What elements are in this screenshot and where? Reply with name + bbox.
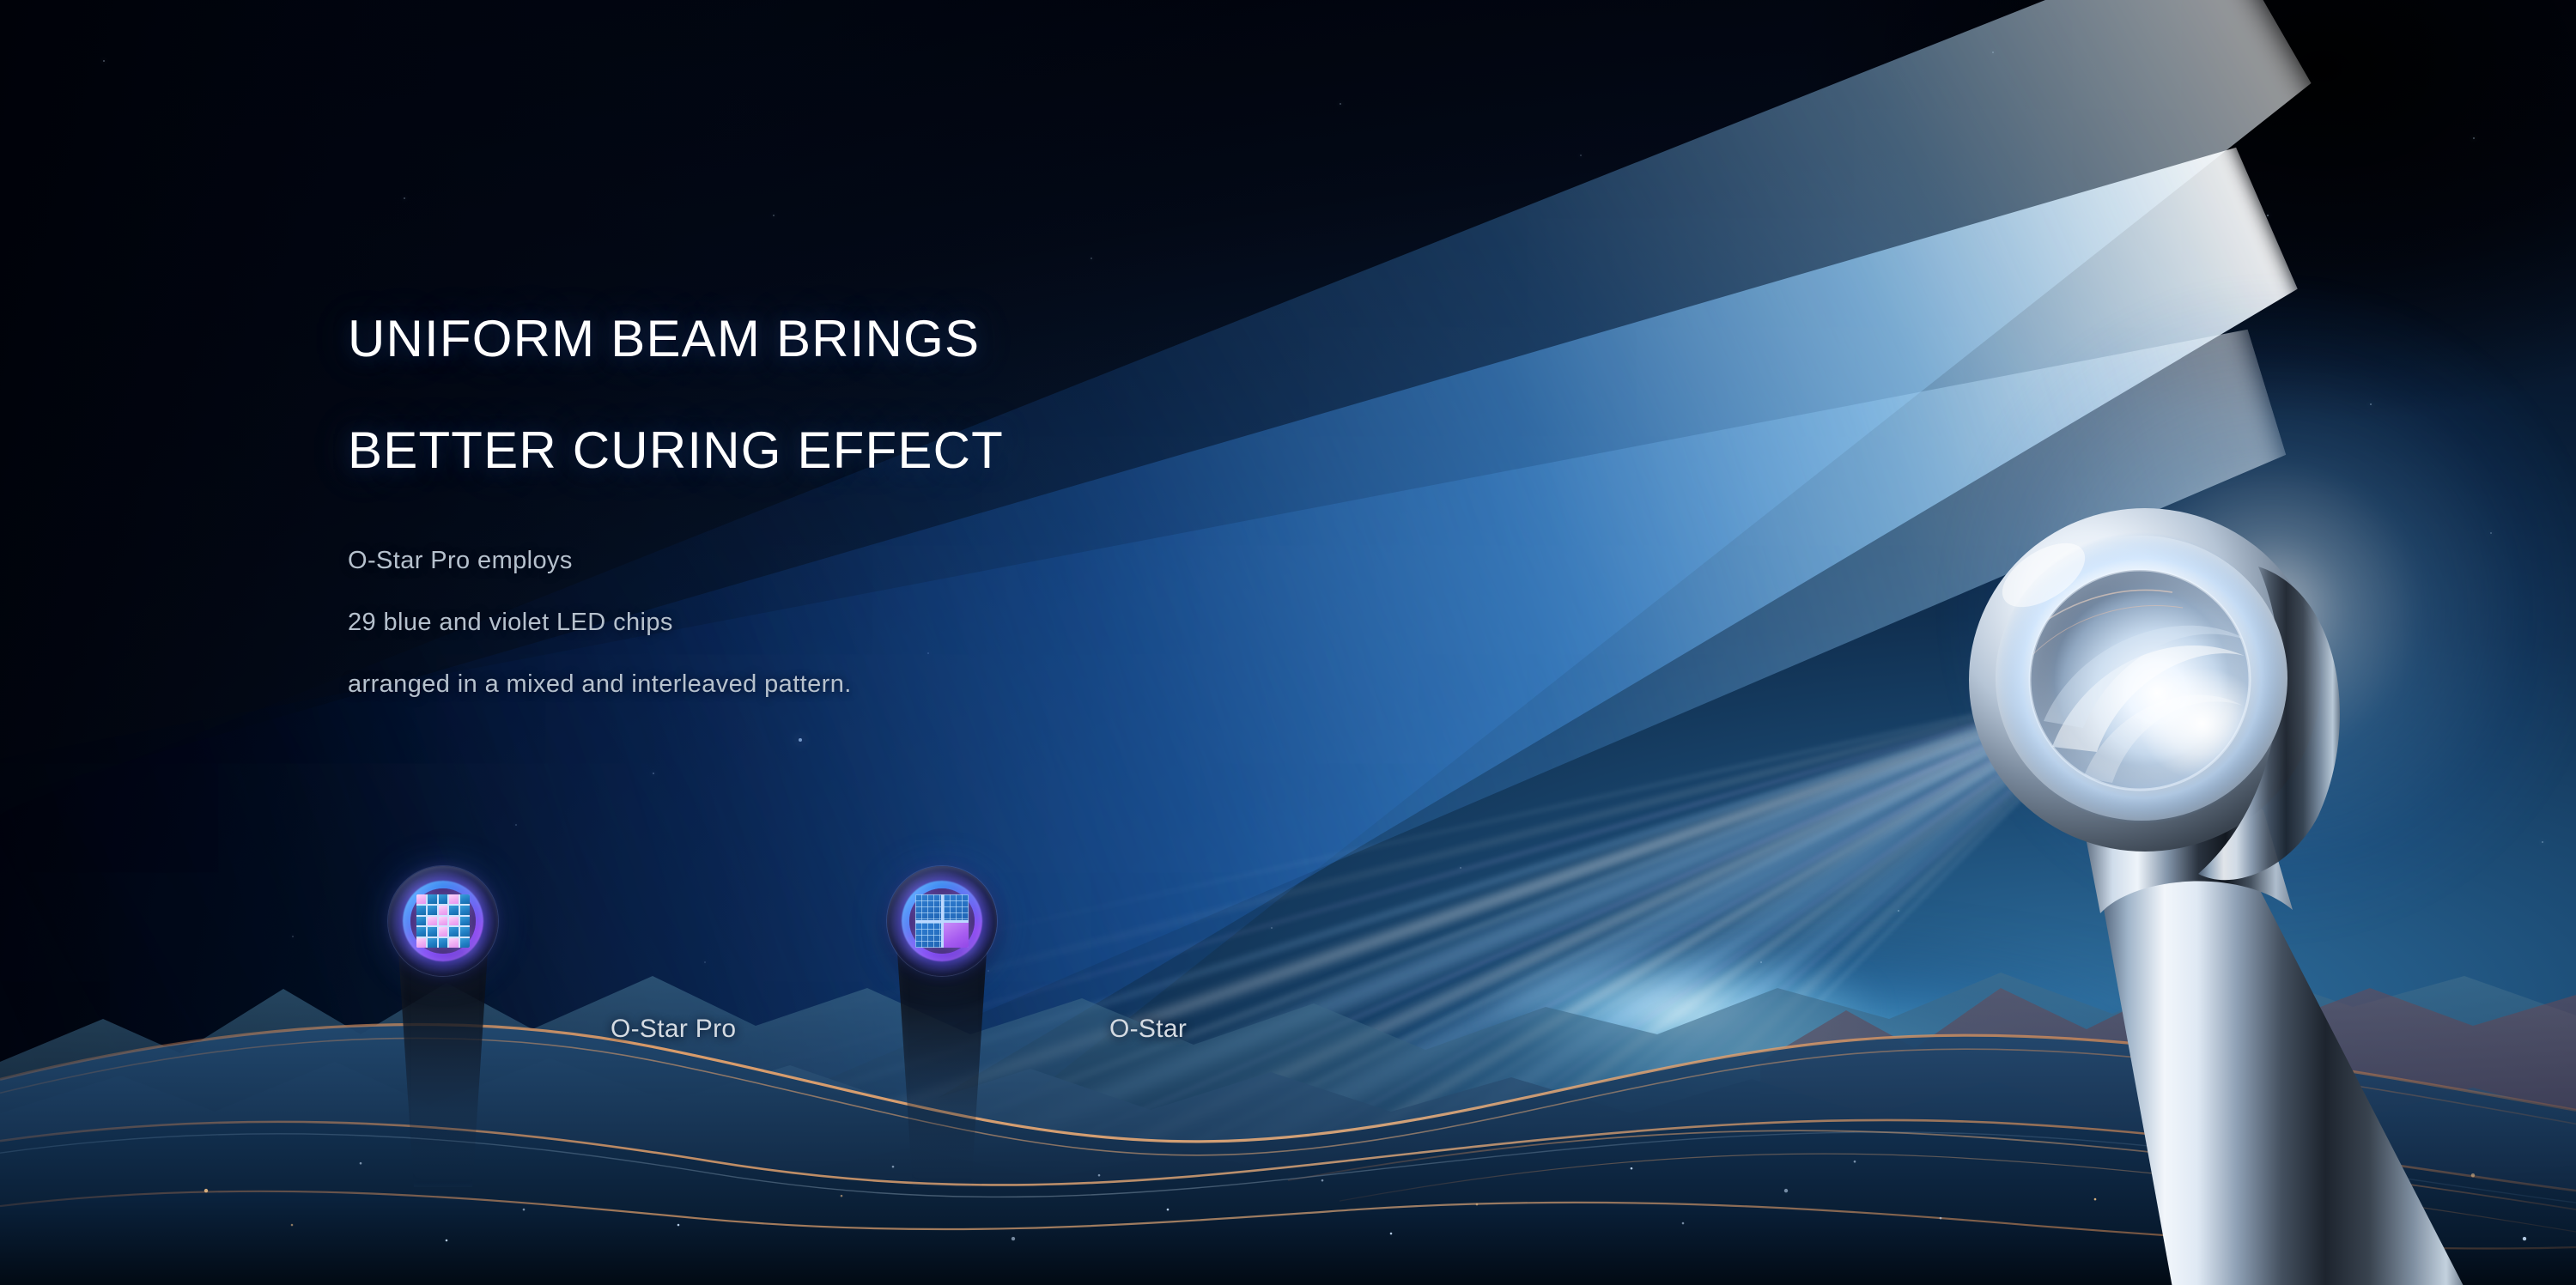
led-cell-blue: [460, 906, 470, 915]
led-cell-blue: [449, 927, 459, 936]
dune-sparkle: [1321, 1179, 1324, 1182]
subcopy-line-3: arranged in a mixed and interleaved patt…: [348, 653, 1378, 715]
dune-sparkle: [204, 1189, 208, 1192]
led-cell-violet: [416, 938, 426, 948]
dune-sparkle: [291, 1224, 294, 1227]
led-cell-blue: [428, 906, 437, 915]
dune-sparkle: [360, 1162, 362, 1165]
led-cell-blue: [460, 894, 470, 904]
led-die-interleaved: [416, 894, 469, 947]
led-cell-blue: [439, 894, 448, 904]
chip-module-o-star-pro: [388, 866, 498, 1192]
led-cell-violet: [416, 894, 426, 904]
led-cell-blue: [428, 927, 437, 936]
dune-sparkle: [1012, 1237, 1015, 1240]
led-cell-blue: [416, 917, 426, 926]
dune-sparkle: [1784, 1189, 1788, 1192]
led-cell-blue: [460, 938, 470, 948]
led-cell-violet: [439, 927, 448, 936]
chip-label-o-star: O-Star: [1109, 1015, 1187, 1044]
led-cell-violet: [439, 906, 448, 915]
headline-line-1: UNIFORM BEAM BRINGS: [348, 283, 1464, 395]
led-quadrant-solid-violet: [944, 923, 969, 948]
subcopy: O-Star Pro employs 29 blue and violet LE…: [348, 530, 1378, 715]
dune-sparkle: [1167, 1209, 1170, 1211]
dune-sparkle: [446, 1240, 448, 1242]
headline: UNIFORM BEAM BRINGS BETTER CURING EFFECT: [348, 283, 1464, 506]
led-cell-blue: [460, 917, 470, 926]
dune-sparkle: [677, 1224, 680, 1227]
led-cell-blue: [428, 894, 437, 904]
promo-banner: UNIFORM BEAM BRINGS BETTER CURING EFFECT…: [0, 0, 2576, 1285]
subcopy-line-2: 29 blue and violet LED chips: [348, 591, 1378, 653]
led-cell-violet: [449, 894, 459, 904]
dune-sparkle: [1476, 1203, 1479, 1206]
device-handle: [2099, 846, 2464, 1285]
headline-line-2: BETTER CURING EFFECT: [348, 395, 1464, 506]
subcopy-line-1: O-Star Pro employs: [348, 530, 1378, 591]
dune-sparkle: [1390, 1233, 1393, 1235]
led-cell-violet: [449, 938, 459, 948]
dune-sparkle: [1854, 1161, 1856, 1163]
dune-sparkle: [1098, 1174, 1101, 1177]
led-quadrant-grid-blue: [944, 894, 969, 919]
led-cell-blue: [460, 927, 470, 936]
dune-sparkle: [1682, 1222, 1685, 1225]
led-quadrant-grid-blue: [915, 894, 940, 919]
chip-module-o-star: [887, 866, 997, 1192]
led-cell-violet: [428, 917, 437, 926]
led-cell-blue: [428, 938, 437, 948]
led-cell-blue: [449, 906, 459, 915]
led-cell-blue: [416, 927, 426, 936]
led-cell-violet: [439, 917, 448, 926]
led-cell-blue: [439, 938, 448, 948]
led-die-quadrant: [915, 894, 968, 947]
chip-bezel: [887, 866, 997, 976]
dune-sparkle: [1631, 1167, 1633, 1170]
led-cell-blue: [416, 906, 426, 915]
chip-bezel: [388, 866, 498, 976]
chip-label-o-star-pro: O-Star Pro: [611, 1015, 736, 1044]
curing-light-device: [1915, 464, 2576, 1285]
led-cell-violet: [449, 917, 459, 926]
dune-sparkle: [841, 1195, 843, 1197]
dune-sparkle: [523, 1209, 526, 1211]
led-quadrant-grid-blue: [915, 923, 940, 948]
